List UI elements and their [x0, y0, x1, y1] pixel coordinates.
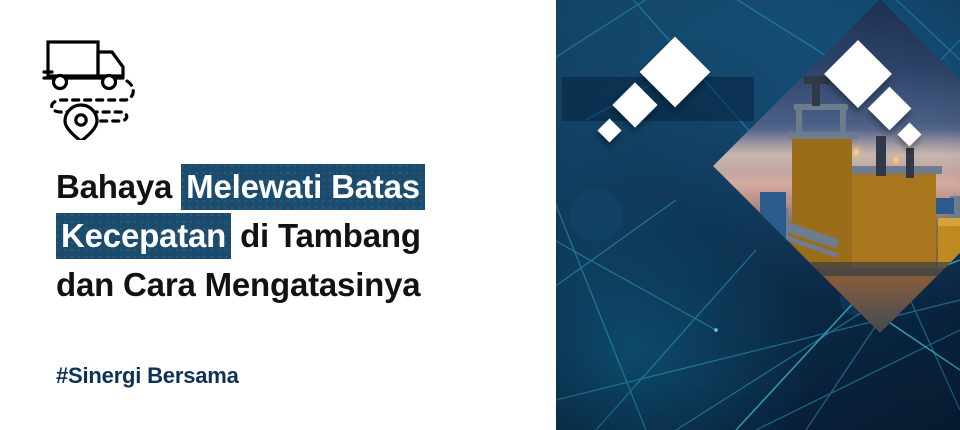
right-hero-panel — [556, 0, 960, 430]
headline-line-1: Bahaya Melewati Batas — [56, 162, 526, 211]
headline: Bahaya Melewati Batas Kecepatan di Tamba… — [56, 162, 526, 309]
hashtag-label: #Sinergi Bersama — [56, 363, 239, 389]
truck-route-icon — [34, 28, 144, 140]
headline-line-2-plain: di Tambang — [231, 217, 421, 254]
headline-line-2: Kecepatan di Tambang — [56, 211, 526, 260]
headline-line-1-highlight: Melewati Batas — [181, 164, 425, 210]
promotional-banner: Bahaya Melewati Batas Kecepatan di Tamba… — [0, 0, 960, 430]
left-content-panel: Bahaya Melewati Batas Kecepatan di Tamba… — [0, 0, 556, 430]
truck-route-icon-graphic — [34, 28, 144, 140]
headline-line-3: dan Cara Mengatasinya — [56, 260, 526, 309]
headline-line-1-plain: Bahaya — [56, 168, 181, 205]
headline-line-2-highlight: Kecepatan — [56, 213, 231, 259]
